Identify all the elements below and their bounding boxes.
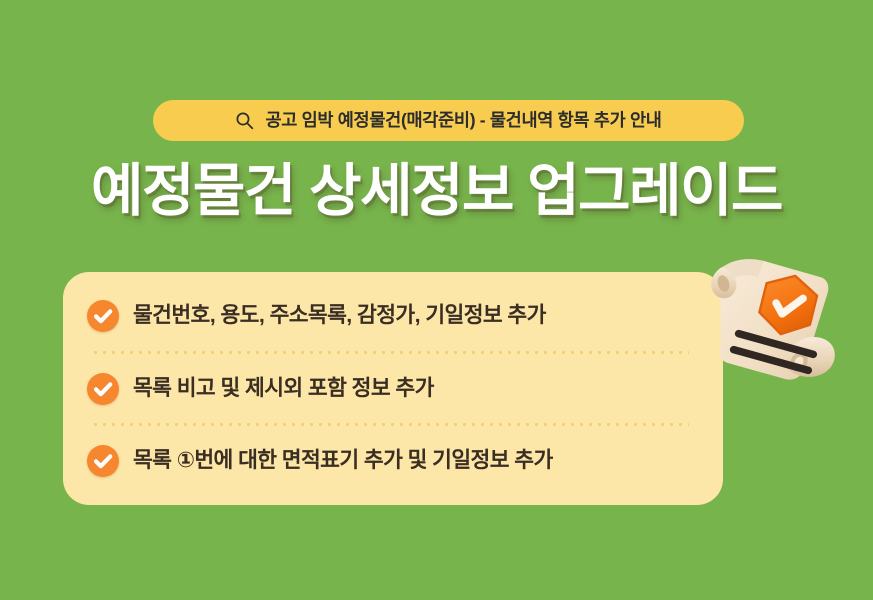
feature-card: 물건번호, 용도, 주소목록, 감정가, 기일정보 추가 목록 비고 및 제시외…	[63, 272, 723, 505]
list-item-label: 목록 비고 및 제시외 포함 정보 추가	[133, 376, 434, 402]
check-circle-icon	[87, 300, 119, 332]
search-pill[interactable]: 공고 임박 예정물건(매각준비) - 물건내역 항목 추가 안내	[153, 100, 744, 141]
check-circle-icon	[87, 445, 119, 477]
list-item: 목록 비고 및 제시외 포함 정보 추가	[87, 367, 693, 411]
search-icon	[235, 111, 254, 130]
check-circle-icon	[87, 373, 119, 405]
promo-banner: 공고 임박 예정물건(매각준비) - 물건내역 항목 추가 안내 예정물건 상세…	[0, 0, 873, 600]
list-item: 물건번호, 용도, 주소목록, 감정가, 기일정보 추가	[87, 294, 693, 338]
divider	[91, 423, 689, 426]
list-item-label: 목록 ①번에 대한 면적표기 추가 및 기일정보 추가	[133, 448, 553, 474]
scroll-document-with-shield-check-icon	[692, 243, 857, 388]
list-item: 목록 ①번에 대한 면적표기 추가 및 기일정보 추가	[87, 439, 693, 483]
divider	[91, 351, 689, 354]
list-item-label: 물건번호, 용도, 주소목록, 감정가, 기일정보 추가	[133, 303, 546, 329]
search-pill-label: 공고 임박 예정물건(매각준비) - 물건내역 항목 추가 안내	[265, 112, 661, 130]
page-title: 예정물건 상세정보 업그레이드	[0, 157, 873, 227]
